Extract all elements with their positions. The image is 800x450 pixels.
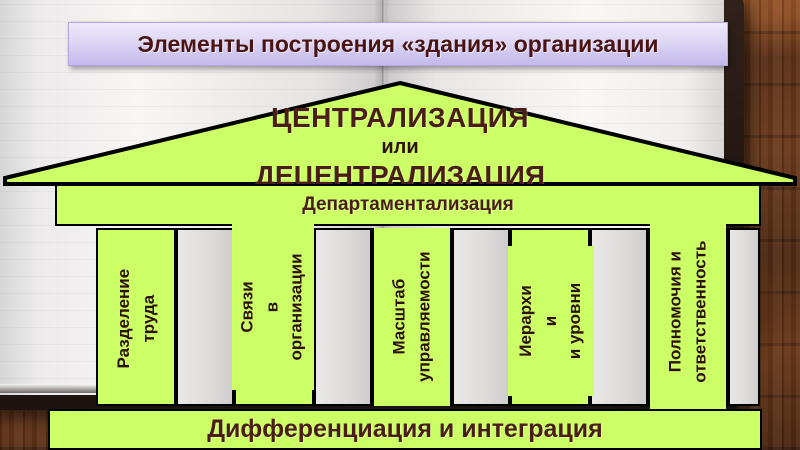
- foundation-differentiation-integration: Дифференциация и интеграция: [48, 409, 762, 450]
- pillar-label-text: Разделение труда: [112, 269, 161, 369]
- page-title: Элементы построения «здания» организации: [137, 31, 658, 58]
- slide-title-plaque: Элементы построения «здания» организации: [68, 22, 728, 66]
- pillar-label-organizational-links: Связи в организации: [232, 224, 314, 390]
- pillar-gap-2: [314, 228, 372, 406]
- pillar-label-span-of-control: Масштаб управляемости: [374, 228, 450, 406]
- beam-departmentalization-label: Департаментализация: [302, 194, 514, 216]
- pillar-gap-1: [176, 228, 234, 406]
- pillar-gap-5: [728, 228, 760, 406]
- pillar-label-division-of-labour: Разделение труда: [100, 236, 174, 402]
- foundation-label: Дифференциация и интеграция: [207, 415, 603, 444]
- roof-triangle-shape: [0, 78, 800, 188]
- pillar-label-hierarchy-levels: Иерархи и и уровни: [508, 246, 594, 396]
- pillar-label-text: Связи в организации: [236, 253, 310, 360]
- slide-canvas: ЦЕНТРАЛИЗАЦИЯ или ДЕЦЕНТРАЛИЗАЦИЯ Департ…: [0, 0, 800, 450]
- pillar-label-text: Полномочия и ответственность: [663, 241, 712, 383]
- organization-house-diagram: ЦЕНТРАЛИЗАЦИЯ или ДЕЦЕНТРАЛИЗАЦИЯ Департ…: [0, 0, 800, 450]
- pillar-gap-4: [590, 228, 648, 406]
- pillar-label-text: Иерархи и и уровни: [514, 283, 588, 359]
- pillar-gap-3: [452, 228, 510, 406]
- pillar-label-authority-responsibility: Полномочия и ответственность: [650, 214, 726, 410]
- pillar-label-text: Масштаб управляемости: [387, 252, 436, 382]
